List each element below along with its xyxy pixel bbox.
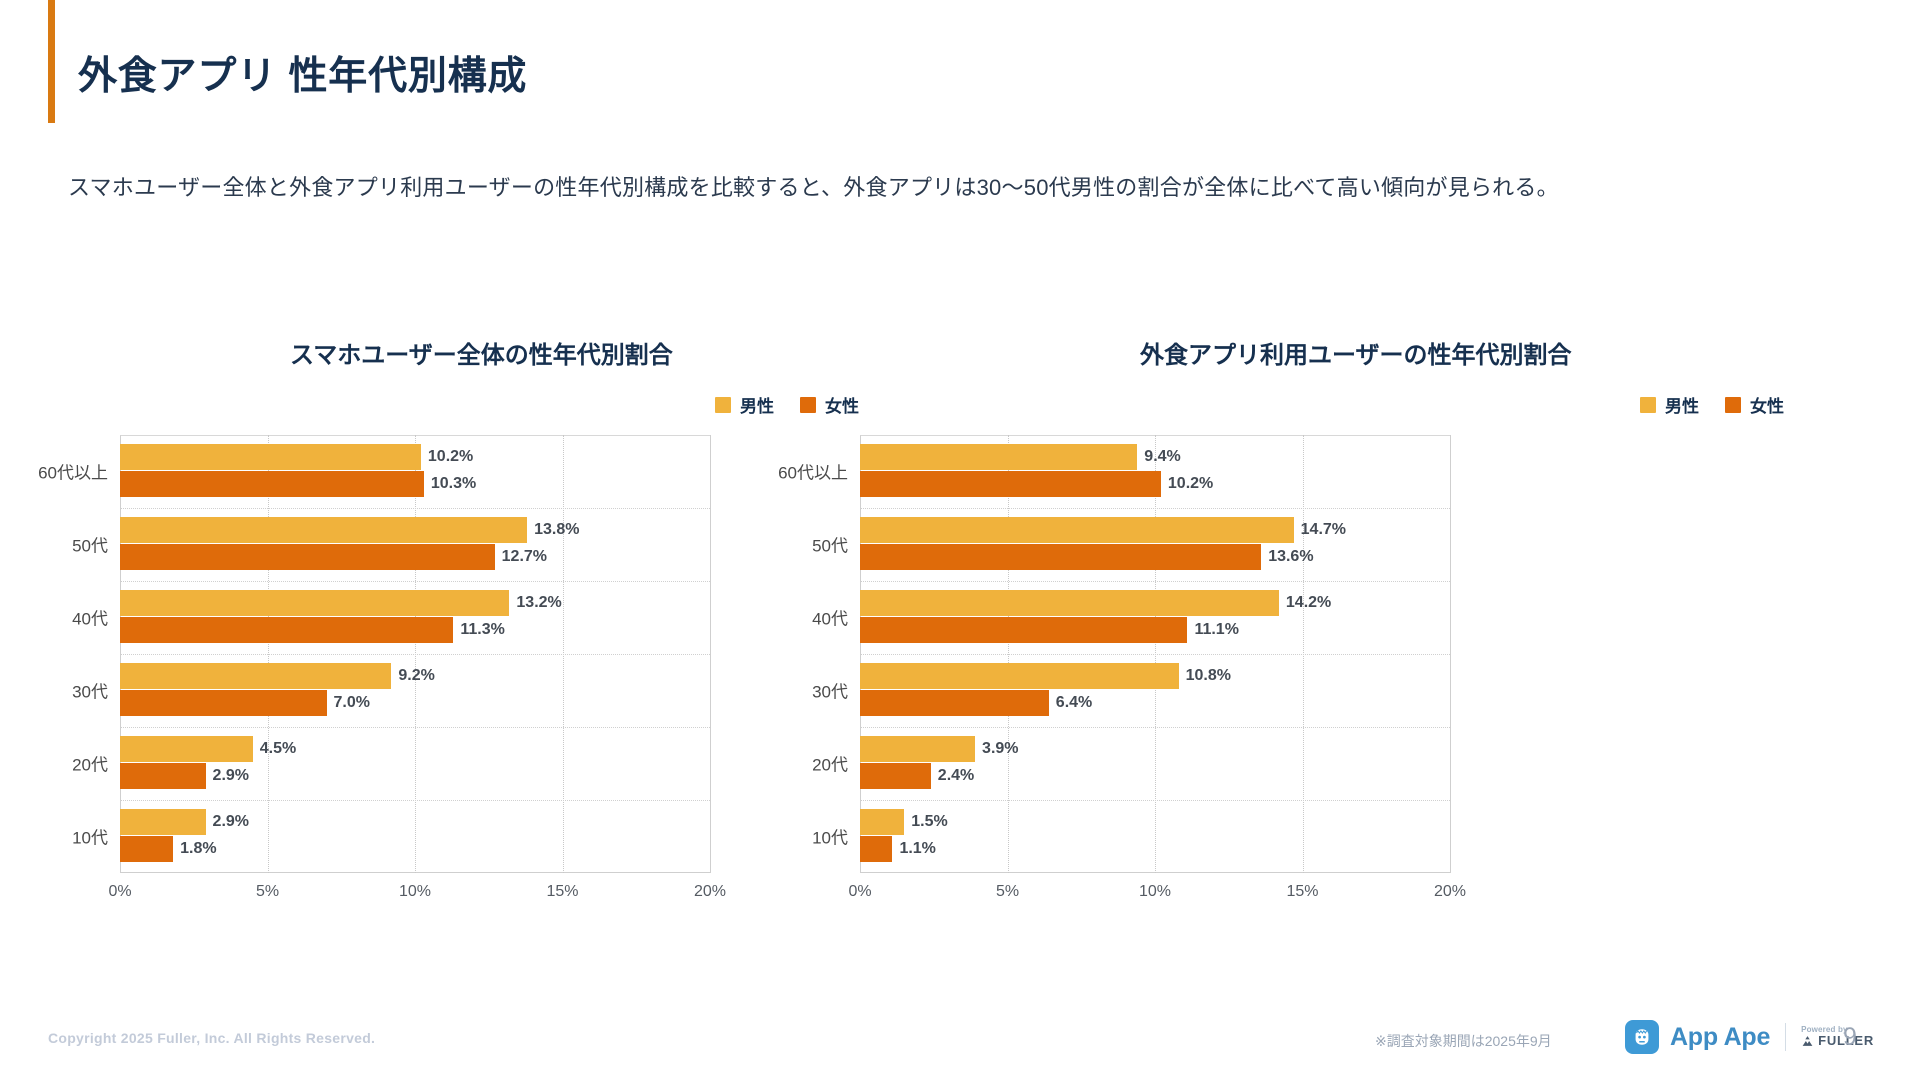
category-label: 30代 xyxy=(72,678,108,703)
category-label: 20代 xyxy=(812,751,848,776)
chart-title-overall: スマホユーザー全体の性年代別割合 xyxy=(290,335,673,370)
bar-value-label: 10.2% xyxy=(1168,475,1213,493)
footer-survey-note: ※調査対象期間は2025年9月 xyxy=(1375,1031,1552,1051)
bar-row: 50代14.7%13.6% xyxy=(860,508,1450,581)
x-tick-label: 15% xyxy=(1286,883,1318,901)
page-number: 9 xyxy=(1843,1023,1857,1052)
legend-item-female: 女性 xyxy=(1725,392,1784,417)
bar-group-male: 3.9% xyxy=(860,736,1450,762)
lead-paragraph: スマホユーザー全体と外食アプリ利用ユーザーの性年代別構成を比較すると、外食アプリ… xyxy=(68,170,1559,202)
row-separator xyxy=(860,727,1450,728)
bar-group-male: 2.9% xyxy=(120,809,710,835)
bar xyxy=(860,517,1294,543)
bar xyxy=(120,809,206,835)
bar-value-label: 12.7% xyxy=(502,548,547,566)
bar xyxy=(120,517,527,543)
bar-group-male: 13.2% xyxy=(120,590,710,616)
x-tick-label: 10% xyxy=(399,883,431,901)
category-label: 20代 xyxy=(72,751,108,776)
bar-group-male: 10.8% xyxy=(860,663,1450,689)
bar xyxy=(120,544,495,570)
bar-group-female: 11.1% xyxy=(860,617,1450,643)
bar-value-label: 9.2% xyxy=(398,667,434,685)
legend-item-male: 男性 xyxy=(1640,392,1699,417)
legend-label-male: 男性 xyxy=(1665,392,1699,417)
bar-row: 10代2.9%1.8% xyxy=(120,800,710,873)
x-tick-label: 5% xyxy=(996,883,1019,901)
x-tick-label: 20% xyxy=(694,883,726,901)
bar-group-female: 12.7% xyxy=(120,544,710,570)
bar-value-label: 2.9% xyxy=(213,813,249,831)
brand-divider xyxy=(1785,1023,1786,1051)
bar-value-label: 11.1% xyxy=(1194,621,1238,639)
x-tick-label: 20% xyxy=(1434,883,1466,901)
bar xyxy=(120,444,421,470)
bar-value-label: 10.2% xyxy=(428,448,473,466)
category-label: 30代 xyxy=(812,678,848,703)
category-label: 40代 xyxy=(812,605,848,630)
app-ape-monkey-icon xyxy=(1625,1020,1659,1054)
category-label: 50代 xyxy=(72,532,108,557)
bar-row: 20代3.9%2.4% xyxy=(860,727,1450,800)
footer-copyright: Copyright 2025 Fuller, Inc. All Rights R… xyxy=(48,1030,375,1046)
bar-group-male: 10.2% xyxy=(120,444,710,470)
category-label: 10代 xyxy=(72,824,108,849)
chart-title-app: 外食アプリ利用ユーザーの性年代別割合 xyxy=(1140,335,1572,370)
row-separator xyxy=(120,727,710,728)
legend-swatch-female-icon xyxy=(1725,397,1741,413)
row-separator xyxy=(860,508,1450,509)
slide-root: 外食アプリ 性年代別構成 スマホユーザー全体と外食アプリ利用ユーザーの性年代別構… xyxy=(0,0,1920,1080)
plot-area-overall: 60代以上10.2%10.3%50代13.8%12.7%40代13.2%11.3… xyxy=(120,435,710,873)
bar-rows: 60代以上10.2%10.3%50代13.8%12.7%40代13.2%11.3… xyxy=(120,435,710,873)
bar-value-label: 2.9% xyxy=(213,767,249,785)
bar xyxy=(860,471,1161,497)
category-label: 10代 xyxy=(812,824,848,849)
bar xyxy=(860,763,931,789)
row-separator xyxy=(860,654,1450,655)
fuller-logo: FULLER xyxy=(1801,1034,1874,1049)
bar-group-male: 4.5% xyxy=(120,736,710,762)
x-tick-label: 15% xyxy=(546,883,578,901)
bar-value-label: 11.3% xyxy=(460,621,504,639)
bar-group-female: 1.8% xyxy=(120,836,710,862)
bar-value-label: 1.8% xyxy=(180,840,216,858)
bar-row: 20代4.5%2.9% xyxy=(120,727,710,800)
bar xyxy=(120,763,206,789)
powered-by-block: Powered by FULLER xyxy=(1801,1025,1874,1049)
bar-group-female: 2.9% xyxy=(120,763,710,789)
legend-swatch-male-icon xyxy=(715,397,731,413)
plot-area-app: 60代以上9.4%10.2%50代14.7%13.6%40代14.2%11.1%… xyxy=(860,435,1450,873)
bar-row: 30代10.8%6.4% xyxy=(860,654,1450,727)
bar-value-label: 14.7% xyxy=(1301,521,1346,539)
bar xyxy=(860,590,1279,616)
bar xyxy=(860,809,904,835)
bar-value-label: 9.4% xyxy=(1144,448,1180,466)
chart-legend-app: 男性 女性 xyxy=(1640,392,1784,417)
x-tick-label: 10% xyxy=(1139,883,1171,901)
brand-name: App Ape xyxy=(1670,1023,1770,1052)
bar-value-label: 3.9% xyxy=(982,740,1018,758)
bar-value-label: 1.1% xyxy=(899,840,935,858)
bar-value-label: 10.3% xyxy=(431,475,476,493)
bar-group-male: 13.8% xyxy=(120,517,710,543)
legend-item-male: 男性 xyxy=(715,392,774,417)
bar xyxy=(860,690,1049,716)
bar xyxy=(860,544,1261,570)
bar-row: 40代13.2%11.3% xyxy=(120,581,710,654)
bar xyxy=(860,617,1187,643)
brand-lockup: App Ape Powered by FULLER xyxy=(1625,1020,1874,1054)
bar-value-label: 13.6% xyxy=(1268,548,1313,566)
bar-group-female: 7.0% xyxy=(120,690,710,716)
bar xyxy=(120,736,253,762)
bar-group-male: 1.5% xyxy=(860,809,1450,835)
category-label: 40代 xyxy=(72,605,108,630)
category-label: 60代以上 xyxy=(778,459,848,484)
page-title: 外食アプリ 性年代別構成 xyxy=(78,45,527,101)
bar-value-label: 4.5% xyxy=(260,740,296,758)
bar-group-male: 14.7% xyxy=(860,517,1450,543)
bar-value-label: 13.2% xyxy=(516,594,561,612)
bar-value-label: 13.8% xyxy=(534,521,579,539)
bar-group-female: 11.3% xyxy=(120,617,710,643)
gridline-vertical xyxy=(710,435,711,873)
legend-label-female: 女性 xyxy=(1750,392,1784,417)
bar-row: 30代9.2%7.0% xyxy=(120,654,710,727)
category-label: 60代以上 xyxy=(38,459,108,484)
legend-swatch-male-icon xyxy=(1640,397,1656,413)
bar-row: 60代以上10.2%10.3% xyxy=(120,435,710,508)
bar-value-label: 14.2% xyxy=(1286,594,1331,612)
fuller-mark-icon xyxy=(1801,1035,1814,1048)
bar-group-female: 2.4% xyxy=(860,763,1450,789)
bar xyxy=(860,736,975,762)
category-label: 50代 xyxy=(812,532,848,557)
x-tick-label: 0% xyxy=(108,883,131,901)
x-axis: 0%5%10%15%20% xyxy=(120,873,710,907)
bar xyxy=(120,617,453,643)
bar xyxy=(120,663,391,689)
bar xyxy=(120,836,173,862)
bar-rows: 60代以上9.4%10.2%50代14.7%13.6%40代14.2%11.1%… xyxy=(860,435,1450,873)
bar-row: 10代1.5%1.1% xyxy=(860,800,1450,873)
bar-group-male: 9.2% xyxy=(120,663,710,689)
bar-value-label: 7.0% xyxy=(334,694,370,712)
bar-group-female: 1.1% xyxy=(860,836,1450,862)
bar xyxy=(860,444,1137,470)
bar xyxy=(860,663,1179,689)
bar-group-female: 10.3% xyxy=(120,471,710,497)
bar-value-label: 1.5% xyxy=(911,813,947,831)
row-separator xyxy=(120,581,710,582)
row-separator xyxy=(860,581,1450,582)
bar xyxy=(120,590,509,616)
title-accent-bar xyxy=(48,0,55,123)
bar-row: 40代14.2%11.1% xyxy=(860,581,1450,654)
bar xyxy=(120,690,327,716)
gridline-vertical xyxy=(1450,435,1451,873)
x-tick-label: 0% xyxy=(848,883,871,901)
x-axis: 0%5%10%15%20% xyxy=(860,873,1450,907)
bar-value-label: 10.8% xyxy=(1186,667,1231,685)
row-separator xyxy=(120,800,710,801)
x-tick-label: 5% xyxy=(256,883,279,901)
row-separator xyxy=(860,800,1450,801)
bar xyxy=(120,471,424,497)
chart-panel-app: 外食アプリ利用ユーザーの性年代別割合 男性 女性 60代以上9.4%10.2%5… xyxy=(800,320,1870,960)
bar-group-female: 6.4% xyxy=(860,690,1450,716)
bar xyxy=(860,836,892,862)
row-separator xyxy=(120,654,710,655)
bar-row: 50代13.8%12.7% xyxy=(120,508,710,581)
legend-label-male: 男性 xyxy=(740,392,774,417)
bar-group-male: 14.2% xyxy=(860,590,1450,616)
bar-group-male: 9.4% xyxy=(860,444,1450,470)
bar-value-label: 6.4% xyxy=(1056,694,1092,712)
row-separator xyxy=(120,508,710,509)
bar-group-female: 13.6% xyxy=(860,544,1450,570)
bar-row: 60代以上9.4%10.2% xyxy=(860,435,1450,508)
bar-group-female: 10.2% xyxy=(860,471,1450,497)
bar-value-label: 2.4% xyxy=(938,767,974,785)
